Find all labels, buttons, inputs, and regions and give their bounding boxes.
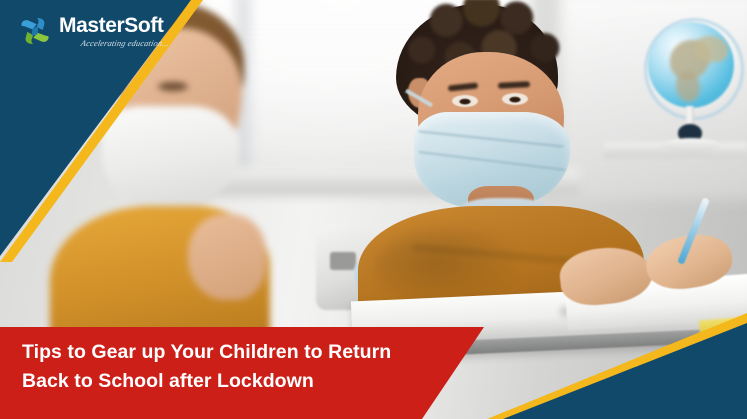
headline-line-2: Back to School after Lockdown [22, 367, 442, 395]
classroom-globe [636, 18, 746, 168]
classmate-face-mask [102, 106, 238, 210]
headline-line-1: Tips to Gear up Your Children to Return [22, 338, 442, 366]
mastersoft-logo[interactable]: MasterSoft Accelerating education... [18, 14, 169, 48]
classmate-hand [188, 214, 266, 300]
logo-wordmark: MasterSoft Accelerating education... [59, 15, 169, 48]
logo-tagline: Accelerating education... [80, 39, 170, 48]
globe-base [662, 138, 720, 154]
arrow-swirl-logo-icon [18, 14, 52, 48]
logo-brand-name: MasterSoft [59, 15, 169, 36]
globe-meridian-ring [644, 18, 744, 120]
boy-eye [502, 93, 528, 105]
boy-eye [452, 95, 478, 107]
blog-banner: MasterSoft Accelerating education... Tip… [0, 0, 747, 419]
classmate-eye [158, 82, 188, 91]
banner-headline: Tips to Gear up Your Children to Return … [22, 338, 442, 395]
